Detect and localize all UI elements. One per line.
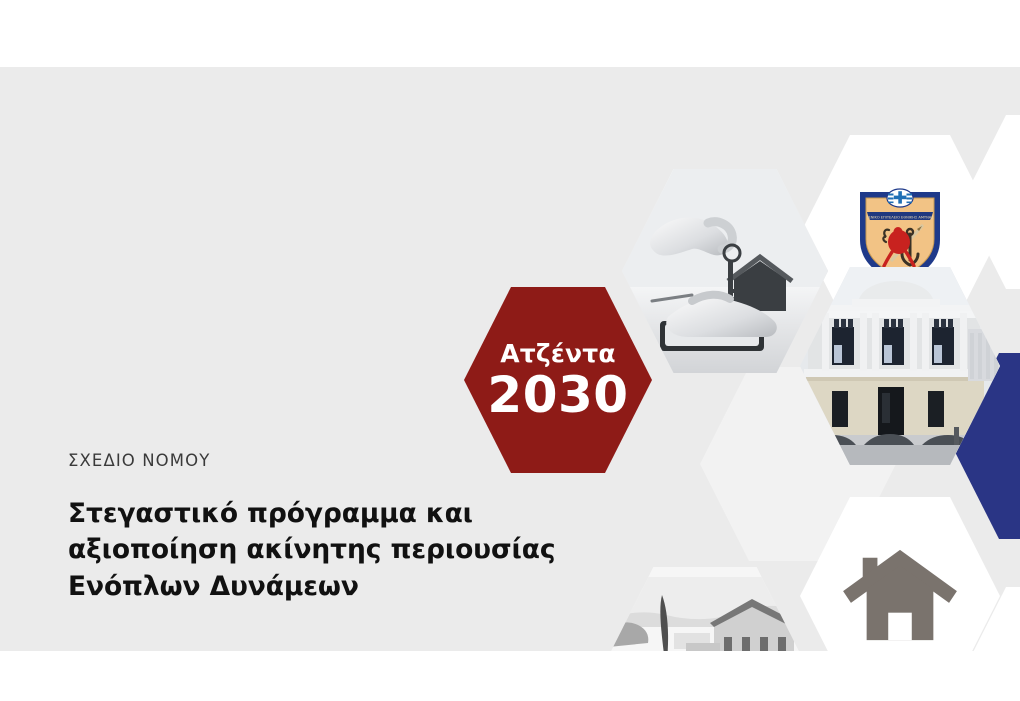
agenda-label: Ατζέντα xyxy=(500,341,616,366)
agenda-year: 2030 xyxy=(487,370,628,420)
keys-photo-hexagon xyxy=(622,169,828,373)
slide-root: ΓΕΝΙΚΟ ΕΠΙΤΕΛΕΙΟ ΕΘΝΙΚΗΣ ΑΜΥΝΑΣ xyxy=(0,0,1020,701)
title-block: ΣΧΕΔΙΟ ΝΟΜΟΥ Στεγαστικό πρόγραμμα και αξ… xyxy=(68,453,608,605)
kicker-label: ΣΧΕΔΙΟ ΝΟΜΟΥ xyxy=(68,453,608,470)
slide-canvas: ΓΕΝΙΚΟ ΕΠΙΤΕΛΕΙΟ ΕΘΝΙΚΗΣ ΑΜΥΝΑΣ xyxy=(0,67,1020,651)
headline-line-2: αξιοποίηση ακίνητης περιουσίας xyxy=(68,532,608,569)
headline-line-1: Στεγαστικό πρόγραμμα και xyxy=(68,496,608,533)
house-icon xyxy=(841,544,959,648)
agenda-badge-hexagon: Ατζέντα 2030 xyxy=(464,287,652,473)
handing-keys-photo xyxy=(622,169,828,373)
headline-line-3: Ενόπλων Δυνάμεων xyxy=(68,569,608,606)
historic-photo-hexagon xyxy=(602,567,808,651)
historic-barracks-photo xyxy=(602,567,808,651)
page-title: Στεγαστικό πρόγραμμα και αξιοποίηση ακίν… xyxy=(68,496,608,606)
svg-text:ΓΕΝΙΚΟ ΕΠΙΤΕΛΕΙΟ ΕΘΝΙΚΗΣ ΑΜΥΝΑ: ΓΕΝΙΚΟ ΕΠΙΤΕΛΕΙΟ ΕΘΝΙΚΗΣ ΑΜΥΝΑΣ xyxy=(866,215,934,219)
